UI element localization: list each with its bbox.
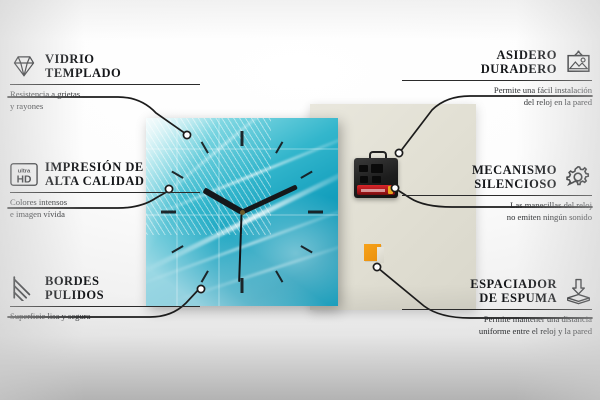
clock-mechanism <box>354 158 398 198</box>
hour-tick <box>201 141 209 153</box>
minute-hand <box>241 184 297 214</box>
feature-title-line1: IMPRESIÓN DE <box>45 160 144 174</box>
feature-title-line2: DE ESPUMA <box>479 291 557 305</box>
hour-tick <box>241 278 244 293</box>
feature-title-line1: ASIDERO <box>497 48 557 62</box>
mechanism-detail <box>359 165 368 172</box>
feature-impresion-alta-calidad: ultra HD IMPRESIÓN DE ALTA CALIDAD Color… <box>10 160 200 220</box>
mechanism-detail <box>360 176 368 183</box>
feature-vidrio-templado: VIDRIO TEMPLADO Resistencia a grietas y … <box>10 52 200 112</box>
feature-title-line2: ALTA CALIDAD <box>45 174 144 188</box>
hour-tick <box>201 270 209 282</box>
feature-title-line2: SILENCIOSO <box>474 177 557 191</box>
feature-title-line1: ESPACIADOR <box>470 277 557 291</box>
divider <box>10 306 200 307</box>
hour-tick <box>300 171 312 179</box>
feature-title-line2: DURADERO <box>481 62 557 76</box>
divider <box>10 192 200 193</box>
feature-bordes-pulidos: BORDES PULIDOS Superficie lisa y segura <box>10 274 200 323</box>
diamond-gem-icon <box>10 52 38 80</box>
ultra-hd-icon: ultra HD <box>10 160 38 188</box>
feature-subtitle: Permite una fácil instalación del reloj … <box>402 85 592 108</box>
hour-tick <box>241 131 244 146</box>
feature-subtitle: Resistencia a grietas y rayones <box>10 89 200 112</box>
foam-spacer-arrow-icon <box>564 277 592 305</box>
divider <box>402 80 592 81</box>
feature-asidero-duradero: ASIDERO DURADERO Permite una fácil insta… <box>402 48 592 108</box>
product-infographic: VIDRIO TEMPLADO Resistencia a grietas y … <box>0 0 600 400</box>
divider <box>10 84 200 85</box>
feature-title-line2: TEMPLADO <box>45 66 121 80</box>
svg-text:HD: HD <box>17 174 32 185</box>
hour-tick <box>300 245 312 253</box>
feature-title-line1: BORDES <box>45 274 99 288</box>
hands-pin <box>240 210 245 215</box>
feature-subtitle: Colores intensos e imagen vívida <box>10 197 200 220</box>
hour-tick <box>275 141 283 153</box>
second-hand <box>239 212 243 282</box>
feature-subtitle: Permite mantener una distancia uniforme … <box>402 314 592 337</box>
mechanism-detail <box>371 164 383 173</box>
gear-icon <box>564 163 592 191</box>
feature-espaciador-de-espuma: ESPACIADOR DE ESPUMA Permite mantener un… <box>402 277 592 337</box>
feature-title-line2: PULIDOS <box>45 288 104 302</box>
hanging-picture-icon <box>564 48 592 76</box>
polished-edges-icon <box>10 274 38 302</box>
mechanism-detail <box>372 176 381 183</box>
divider <box>402 195 592 196</box>
divider <box>402 309 592 310</box>
hour-tick <box>275 270 283 282</box>
battery <box>357 185 395 195</box>
foam-spacer <box>364 244 381 261</box>
hour-tick <box>308 211 323 214</box>
hour-hand <box>202 187 243 214</box>
mechanism-body <box>354 158 398 198</box>
feature-subtitle: Las manecillas del reloj no emiten ningú… <box>402 200 592 223</box>
feature-subtitle: Superficie lisa y segura <box>10 311 200 323</box>
feature-title-line1: MECANISMO <box>472 163 557 177</box>
hour-tick <box>171 245 183 253</box>
feature-mecanismo-silencioso: MECANISMO SILENCIOSO Las manecillas del … <box>402 163 592 223</box>
feature-title-line1: VIDRIO <box>45 52 95 66</box>
